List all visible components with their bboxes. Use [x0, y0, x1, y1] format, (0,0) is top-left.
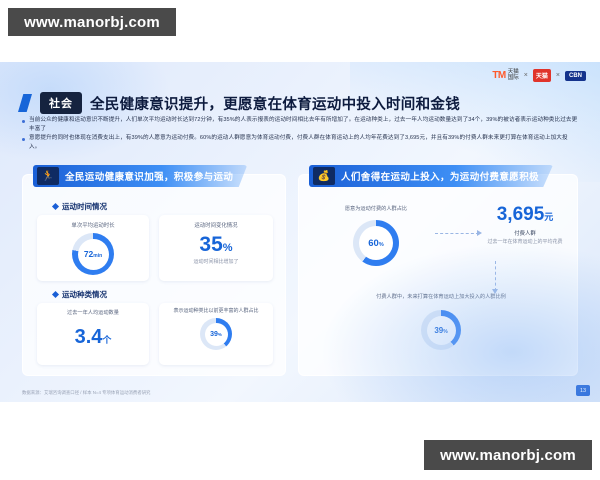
section-label-time: 运动时间情况	[53, 201, 107, 212]
connector-line-1	[435, 233, 479, 234]
future-invest-value: 39	[434, 326, 443, 335]
slide: TM 天猫国际 × 天猫 × CBN 社会 全民健康意识提升，更愿意在体育运动中…	[0, 62, 600, 402]
card-time-change-value: 35	[199, 233, 222, 256]
card-time-change-caption: 运动时间相比增加了	[159, 258, 273, 265]
panel-right-header-text: 人们舍得在运动上投入，为运动付费意愿积极	[341, 169, 539, 183]
ring-timer-chart: 72min	[72, 233, 114, 275]
logo-group: TM 天猫国际 × 天猫 × CBN	[492, 69, 586, 82]
partner-logo-blue: CBN	[565, 71, 586, 81]
footnote: 数据来源：艾瑞咨询调查口径 / 样本 N=4 专项体育运动消费者研究	[22, 390, 150, 396]
panel-left-header-text: 全民运动健康意识加强，积极参与运动	[65, 169, 233, 183]
connector-arrow-2	[492, 289, 498, 294]
title-accent-icon	[18, 94, 32, 112]
card-variety-share-unit: %	[218, 332, 222, 337]
bullet-list: 当前公众的健康和运动意识不断提升，人们单次平均运动时长达到72分钟，有35%的人…	[22, 116, 578, 153]
running-person-icon: 🏃	[37, 167, 59, 185]
card-variety-share-title: 表示运动种类比以前更丰富的人群占比	[159, 308, 273, 315]
bullet-text: 当前公众的健康和运动意识不断提升，人们单次平均运动时长达到72分钟，有35%的人…	[29, 116, 578, 133]
watermark-top: www.manorbj.com	[8, 8, 176, 36]
donut-variety-share: 39%	[200, 318, 232, 350]
panel-left: 🏃 全民运动健康意识加强，积极参与运动 运动时间情况 单次平均运动时长 72mi…	[22, 174, 286, 376]
watermark-bottom: www.manorbj.com	[424, 440, 592, 470]
bullet-item: 意愿提升的同时也体现在消费支出上，有39%的人愿意为运动付费。60%的运动人群愿…	[22, 134, 578, 151]
panel-right: 💰 人们舍得在运动上投入，为运动付费意愿积极 愿意为运动付费的人群占比 60%	[298, 174, 578, 376]
card-time-change-title: 运动时间变化情况	[159, 221, 273, 229]
card-sport-count-title: 过去一年人均运动数量	[37, 309, 149, 316]
avg-spend-label: 付费人群	[477, 229, 573, 237]
bullet-dot-icon	[22, 120, 25, 123]
diamond-icon	[52, 291, 59, 298]
section-label-time-text: 运动时间情况	[62, 201, 107, 212]
tmall-logo-cn: 天猫国际	[508, 70, 519, 82]
card-sport-count-value: 3.4	[75, 326, 103, 348]
future-invest-unit: %	[443, 329, 447, 335]
paying-share-title: 愿意为运动付费的人群占比	[317, 205, 435, 212]
bullet-item: 当前公众的健康和运动意识不断提升，人们单次平均运动时长达到72分钟，有35%的人…	[22, 116, 578, 133]
section-label-type: 运动种类情况	[53, 289, 107, 300]
panel-right-header: 💰 人们舍得在运动上投入，为运动付费意愿积极	[309, 165, 553, 187]
card-time-change-unit: %	[223, 242, 233, 254]
bullet-dot-icon	[22, 138, 25, 141]
donut-future-invest: 39%	[421, 310, 461, 350]
avg-spend-caption: 过去一年在体育运动上的平均花费	[477, 238, 573, 245]
screenshot-root: www.manorbj.com www.manorbj.com TM 天猫国际 …	[0, 0, 600, 480]
panel-left-header: 🏃 全民运动健康意识加强，积极参与运动	[33, 165, 247, 187]
card-time-change: 运动时间变化情况 35% 运动时间相比增加了	[159, 215, 273, 281]
card-sport-count: 过去一年人均运动数量 3.4个	[37, 303, 149, 365]
donut-paying-share: 60%	[353, 220, 399, 266]
diamond-icon	[52, 203, 59, 210]
paying-share-block: 愿意为运动付费的人群占比 60%	[317, 205, 435, 266]
slide-title-bar: 社会 全民健康意识提升，更愿意在体育运动中投入时间和金钱	[18, 92, 460, 114]
card-avg-duration-unit: min	[93, 253, 102, 259]
partner-logo-red: 天猫	[533, 69, 551, 82]
connector-line-2	[495, 261, 496, 291]
card-avg-duration: 单次平均运动时长 72min	[37, 215, 149, 281]
money-run-icon: 💰	[313, 167, 335, 185]
card-variety-share: 表示运动种类比以前更丰富的人群占比 39%	[159, 303, 273, 365]
tmall-logo: TM 天猫国际	[492, 70, 518, 82]
page-title: 全民健康意识提升，更愿意在体育运动中投入时间和金钱	[90, 93, 460, 114]
paying-share-unit: %	[379, 242, 384, 248]
bullet-text: 意愿提升的同时也体现在消费支出上，有39%的人愿意为运动付费。60%的运动人群愿…	[29, 134, 578, 151]
paying-share-value: 60	[368, 238, 379, 249]
avg-spend-block: 3,695元 付费人群 过去一年在体育运动上的平均花费	[477, 205, 573, 245]
category-badge: 社会	[40, 92, 82, 114]
card-variety-share-value: 39	[210, 331, 218, 338]
card-sport-count-unit: 个	[102, 335, 111, 345]
logo-separator-1: ×	[524, 72, 528, 79]
avg-spend-unit: 元	[544, 212, 553, 222]
page-number: 13	[576, 385, 590, 396]
future-invest-title: 付费人群中，未来打算在体育运动上加大投入的人群比例	[351, 293, 531, 300]
section-label-type-text: 运动种类情况	[62, 289, 107, 300]
avg-spend-value: 3,695	[497, 204, 545, 225]
card-avg-duration-title: 单次平均运动时长	[37, 221, 149, 229]
future-invest-block: 付费人群中，未来打算在体育运动上加大投入的人群比例 39%	[351, 293, 531, 350]
logo-separator-2: ×	[556, 72, 560, 79]
card-avg-duration-value: 72	[84, 249, 93, 259]
tmall-wordmark: TM	[492, 70, 505, 81]
